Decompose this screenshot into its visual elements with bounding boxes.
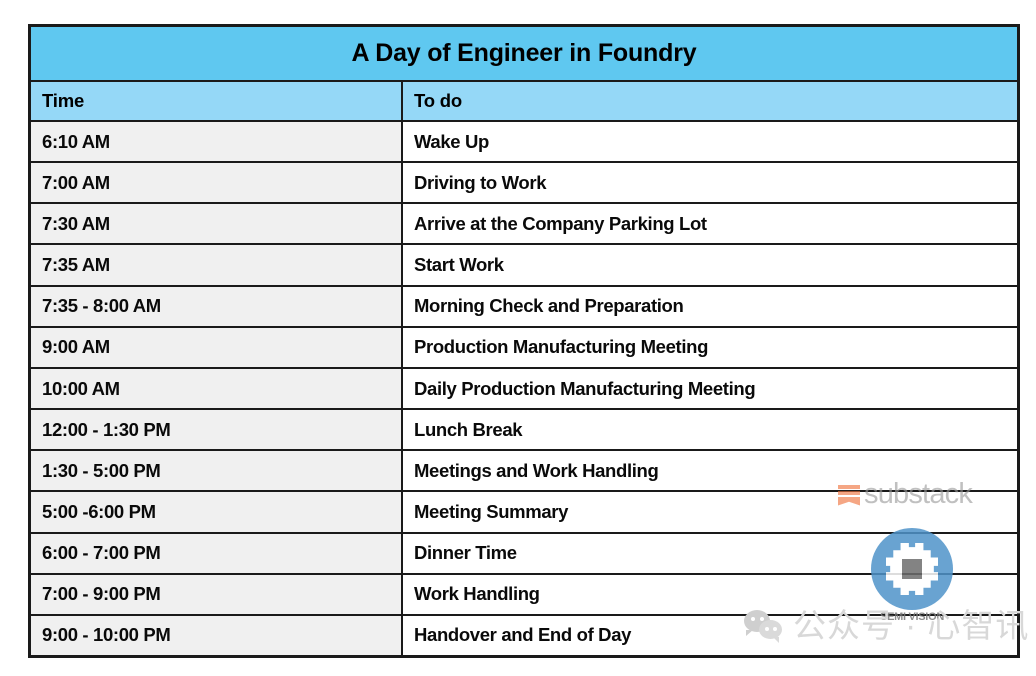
cell-todo: Daily Production Manufacturing Meeting (403, 369, 1017, 408)
cell-todo-text: Meeting Summary (414, 501, 568, 523)
table-title-row: A Day of Engineer in Foundry (31, 27, 1017, 82)
cell-time: 1:30 - 5:00 PM (31, 451, 403, 490)
cell-time-text: 5:00 -6:00 PM (42, 501, 156, 523)
cell-time: 7:30 AM (31, 204, 403, 243)
cell-todo: Driving to Work (403, 163, 1017, 202)
cell-todo-text: Start Work (414, 254, 504, 276)
table-row: 10:00 AM Daily Production Manufacturing … (31, 369, 1017, 410)
cell-time-text: 6:10 AM (42, 131, 110, 153)
cell-todo: Lunch Break (403, 410, 1017, 449)
column-header-todo-label: To do (414, 90, 462, 112)
cell-todo-text: Morning Check and Preparation (414, 295, 683, 317)
cell-time: 7:00 AM (31, 163, 403, 202)
table-row: 12:00 - 1:30 PM Lunch Break (31, 410, 1017, 451)
cell-time-text: 7:30 AM (42, 213, 110, 235)
table-row: 9:00 - 10:00 PM Handover and End of Day (31, 616, 1017, 655)
table-row: 6:00 - 7:00 PM Dinner Time (31, 534, 1017, 575)
cell-time-text: 7:00 - 9:00 PM (42, 583, 161, 605)
cell-todo-text: Production Manufacturing Meeting (414, 336, 708, 358)
cell-time-text: 9:00 - 10:00 PM (42, 624, 170, 646)
cell-todo: Wake Up (403, 122, 1017, 161)
cell-todo-text: Arrive at the Company Parking Lot (414, 213, 707, 235)
cell-time-text: 6:00 - 7:00 PM (42, 542, 161, 564)
cell-todo: Arrive at the Company Parking Lot (403, 204, 1017, 243)
cell-time: 7:00 - 9:00 PM (31, 575, 403, 614)
column-header-time: Time (31, 82, 403, 120)
table-row: 7:00 - 9:00 PM Work Handling (31, 575, 1017, 616)
cell-todo: Morning Check and Preparation (403, 287, 1017, 326)
cell-todo: Meeting Summary (403, 492, 1017, 531)
table-row: 7:30 AM Arrive at the Company Parking Lo… (31, 204, 1017, 245)
table-row: 5:00 -6:00 PM Meeting Summary (31, 492, 1017, 533)
table-row: 7:35 AM Start Work (31, 245, 1017, 286)
cell-todo: Production Manufacturing Meeting (403, 328, 1017, 367)
cell-time: 6:00 - 7:00 PM (31, 534, 403, 573)
cell-todo: Handover and End of Day (403, 616, 1017, 655)
cell-todo: Work Handling (403, 575, 1017, 614)
table-header-row: Time To do (31, 82, 1017, 122)
table-row: 6:10 AM Wake Up (31, 122, 1017, 163)
cell-todo-text: Wake Up (414, 131, 489, 153)
cell-time: 5:00 -6:00 PM (31, 492, 403, 531)
cell-todo: Dinner Time (403, 534, 1017, 573)
cell-todo-text: Daily Production Manufacturing Meeting (414, 378, 755, 400)
cell-todo-text: Meetings and Work Handling (414, 460, 658, 482)
table-row: 9:00 AM Production Manufacturing Meeting (31, 328, 1017, 369)
schedule-table: A Day of Engineer in Foundry Time To do … (28, 24, 1020, 658)
column-header-todo: To do (403, 82, 1017, 120)
cell-time: 9:00 - 10:00 PM (31, 616, 403, 655)
page-title: A Day of Engineer in Foundry (352, 39, 697, 68)
cell-time-text: 12:00 - 1:30 PM (42, 419, 170, 441)
cell-todo-text: Handover and End of Day (414, 624, 631, 646)
cell-todo-text: Work Handling (414, 583, 540, 605)
cell-time: 9:00 AM (31, 328, 403, 367)
cell-time: 6:10 AM (31, 122, 403, 161)
table-row: 7:00 AM Driving to Work (31, 163, 1017, 204)
cell-time-text: 1:30 - 5:00 PM (42, 460, 161, 482)
cell-todo: Start Work (403, 245, 1017, 284)
cell-time: 10:00 AM (31, 369, 403, 408)
cell-time-text: 7:35 - 8:00 AM (42, 295, 161, 317)
cell-time: 7:35 AM (31, 245, 403, 284)
cell-time-text: 10:00 AM (42, 378, 120, 400)
table-row: 1:30 - 5:00 PM Meetings and Work Handlin… (31, 451, 1017, 492)
cell-time-text: 7:00 AM (42, 172, 110, 194)
cell-todo-text: Driving to Work (414, 172, 546, 194)
table-row: 7:35 - 8:00 AM Morning Check and Prepara… (31, 287, 1017, 328)
cell-todo: Meetings and Work Handling (403, 451, 1017, 490)
cell-todo-text: Lunch Break (414, 419, 522, 441)
cell-todo-text: Dinner Time (414, 542, 517, 564)
column-header-time-label: Time (42, 90, 84, 112)
cell-time-text: 9:00 AM (42, 336, 110, 358)
cell-time: 12:00 - 1:30 PM (31, 410, 403, 449)
cell-time: 7:35 - 8:00 AM (31, 287, 403, 326)
cell-time-text: 7:35 AM (42, 254, 110, 276)
